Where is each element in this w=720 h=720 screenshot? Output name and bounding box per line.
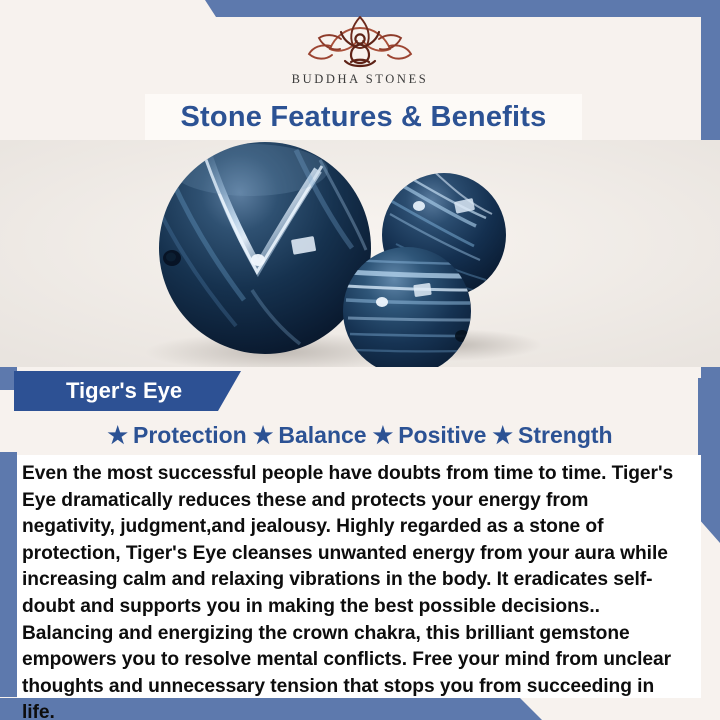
star-icon: ★ <box>492 424 513 447</box>
star-icon: ★ <box>253 424 274 447</box>
tigers-eye-spheres-image <box>0 140 720 367</box>
star-icon: ★ <box>107 424 128 447</box>
product-info-poster: BUDDHA STONES Stone Features & Benefits <box>0 0 720 720</box>
page-title-band: Stone Features & Benefits <box>145 94 582 140</box>
benefit-label: Positive <box>398 422 486 449</box>
benefit-label: Strength <box>518 422 613 449</box>
benefit-item-protection: ★ Protection <box>107 422 246 449</box>
brand-header: BUDDHA STONES <box>0 0 720 90</box>
stone-name: Tiger's Eye <box>14 378 182 404</box>
page-title: Stone Features & Benefits <box>181 101 547 134</box>
benefits-list: ★ Protection ★ Balance ★ Positive ★ Stre… <box>0 416 720 454</box>
benefit-item-balance: ★ Balance <box>253 422 367 449</box>
benefit-item-positive: ★ Positive <box>373 422 487 449</box>
product-photo <box>0 140 720 367</box>
description-panel: Even the most successful people have dou… <box>17 455 701 698</box>
brand-logo: BUDDHA STONES <box>0 12 720 87</box>
brand-name: BUDDHA STONES <box>0 72 720 87</box>
lotus-meditation-icon <box>301 12 419 70</box>
frame-right-lower-bar <box>698 378 720 543</box>
benefit-label: Protection <box>133 422 247 449</box>
stone-name-ribbon: Tiger's Eye <box>14 371 241 411</box>
description-text: Even the most successful people have dou… <box>22 461 683 720</box>
benefit-item-strength: ★ Strength <box>492 422 612 449</box>
frame-left-lower-bar <box>0 452 17 697</box>
benefit-label: Balance <box>278 422 366 449</box>
star-icon: ★ <box>373 424 394 447</box>
